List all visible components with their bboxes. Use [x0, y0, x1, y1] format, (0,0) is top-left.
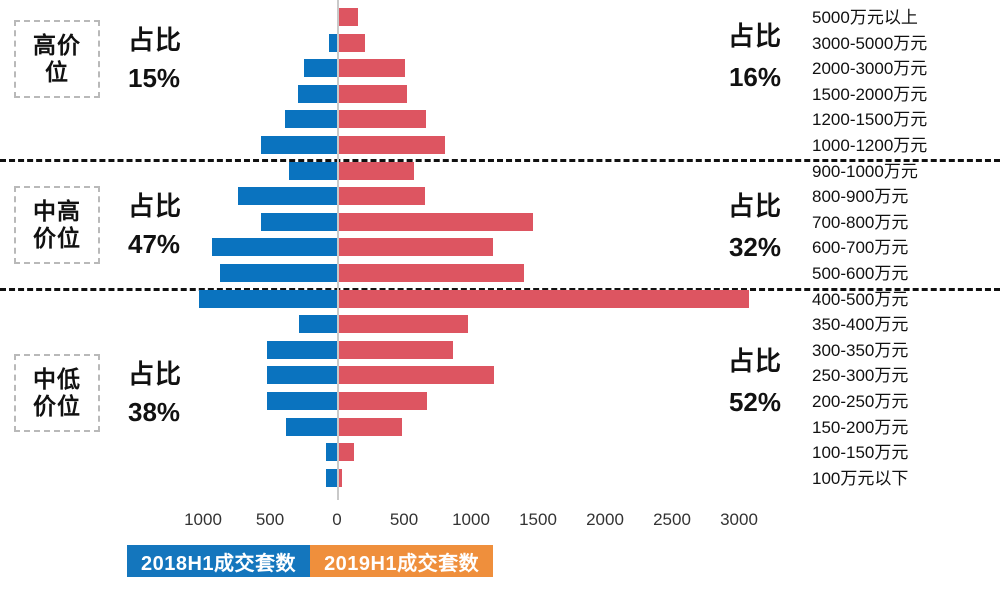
category-label-9: 600-700万元 — [812, 239, 908, 256]
category-label-3: 1500-2000万元 — [812, 86, 927, 103]
category-label-17: 100-150万元 — [812, 444, 908, 461]
bar-2019-0 — [339, 8, 358, 26]
category-label-12: 350-400万元 — [812, 316, 908, 333]
bar-2018-11 — [199, 290, 337, 308]
bar-2019-12 — [339, 315, 468, 333]
bar-2018-17 — [326, 443, 337, 461]
category-label-10: 500-600万元 — [812, 265, 908, 282]
x-tick-3: 500 — [390, 510, 418, 530]
bar-2018-15 — [267, 392, 337, 410]
bar-2019-16 — [339, 418, 402, 436]
category-label-16: 150-200万元 — [812, 419, 908, 436]
x-tick-5: 1500 — [519, 510, 557, 530]
category-label-18: 100万元以下 — [812, 470, 908, 487]
bar-2018-7 — [238, 187, 337, 205]
legend-item-2019[interactable]: 2019H1成交套数 — [310, 545, 493, 577]
bar-2018-14 — [267, 366, 337, 384]
category-label-14: 250-300万元 — [812, 367, 908, 384]
bar-2019-4 — [339, 110, 426, 128]
legend-item-2018[interactable]: 2018H1成交套数 — [127, 545, 310, 577]
bar-2018-12 — [299, 315, 337, 333]
category-label-1: 3000-5000万元 — [812, 35, 927, 52]
bar-2018-18 — [326, 469, 337, 487]
category-label-6: 900-1000万元 — [812, 163, 918, 180]
bar-2019-5 — [339, 136, 445, 154]
bar-2019-14 — [339, 366, 494, 384]
x-tick-0: 1000 — [184, 510, 222, 530]
category-label-4: 1200-1500万元 — [812, 111, 927, 128]
bar-2019-11 — [339, 290, 749, 308]
x-tick-7: 2500 — [653, 510, 691, 530]
category-label-11: 400-500万元 — [812, 291, 908, 308]
category-label-5: 1000-1200万元 — [812, 137, 927, 154]
bar-2018-1 — [329, 34, 337, 52]
x-tick-2: 0 — [332, 510, 341, 530]
bar-2018-13 — [267, 341, 337, 359]
category-label-15: 200-250万元 — [812, 393, 908, 410]
bar-2018-10 — [220, 264, 337, 282]
bar-2019-6 — [339, 162, 414, 180]
bar-2019-10 — [339, 264, 524, 282]
bar-2019-2 — [339, 59, 405, 77]
bar-2018-8 — [261, 213, 337, 231]
bar-2019-17 — [339, 443, 354, 461]
bar-2019-13 — [339, 341, 453, 359]
category-label-2: 2000-3000万元 — [812, 60, 927, 77]
bar-2018-3 — [298, 85, 337, 103]
x-tick-4: 1000 — [452, 510, 490, 530]
bar-2019-1 — [339, 34, 365, 52]
category-label-0: 5000万元以上 — [812, 9, 918, 26]
x-tick-8: 3000 — [720, 510, 758, 530]
bar-2018-4 — [285, 110, 337, 128]
x-tick-6: 2000 — [586, 510, 624, 530]
bar-2018-5 — [261, 136, 337, 154]
x-tick-1: 500 — [256, 510, 284, 530]
bar-2019-7 — [339, 187, 425, 205]
bar-2018-2 — [304, 59, 338, 77]
bar-2018-6 — [289, 162, 337, 180]
bar-2019-8 — [339, 213, 533, 231]
diverging-bar-chart: 5000万元以上3000-5000万元2000-3000万元1500-2000万… — [0, 0, 1000, 500]
bar-2019-9 — [339, 238, 493, 256]
bar-2019-15 — [339, 392, 427, 410]
category-label-8: 700-800万元 — [812, 214, 908, 231]
bar-2019-18 — [339, 469, 342, 487]
category-label-13: 300-350万元 — [812, 342, 908, 359]
bar-2018-9 — [212, 238, 337, 256]
category-label-7: 800-900万元 — [812, 188, 908, 205]
chart-legend: 2018H1成交套数 2019H1成交套数 — [127, 545, 493, 577]
bar-2019-3 — [339, 85, 407, 103]
bar-2018-16 — [286, 418, 337, 436]
